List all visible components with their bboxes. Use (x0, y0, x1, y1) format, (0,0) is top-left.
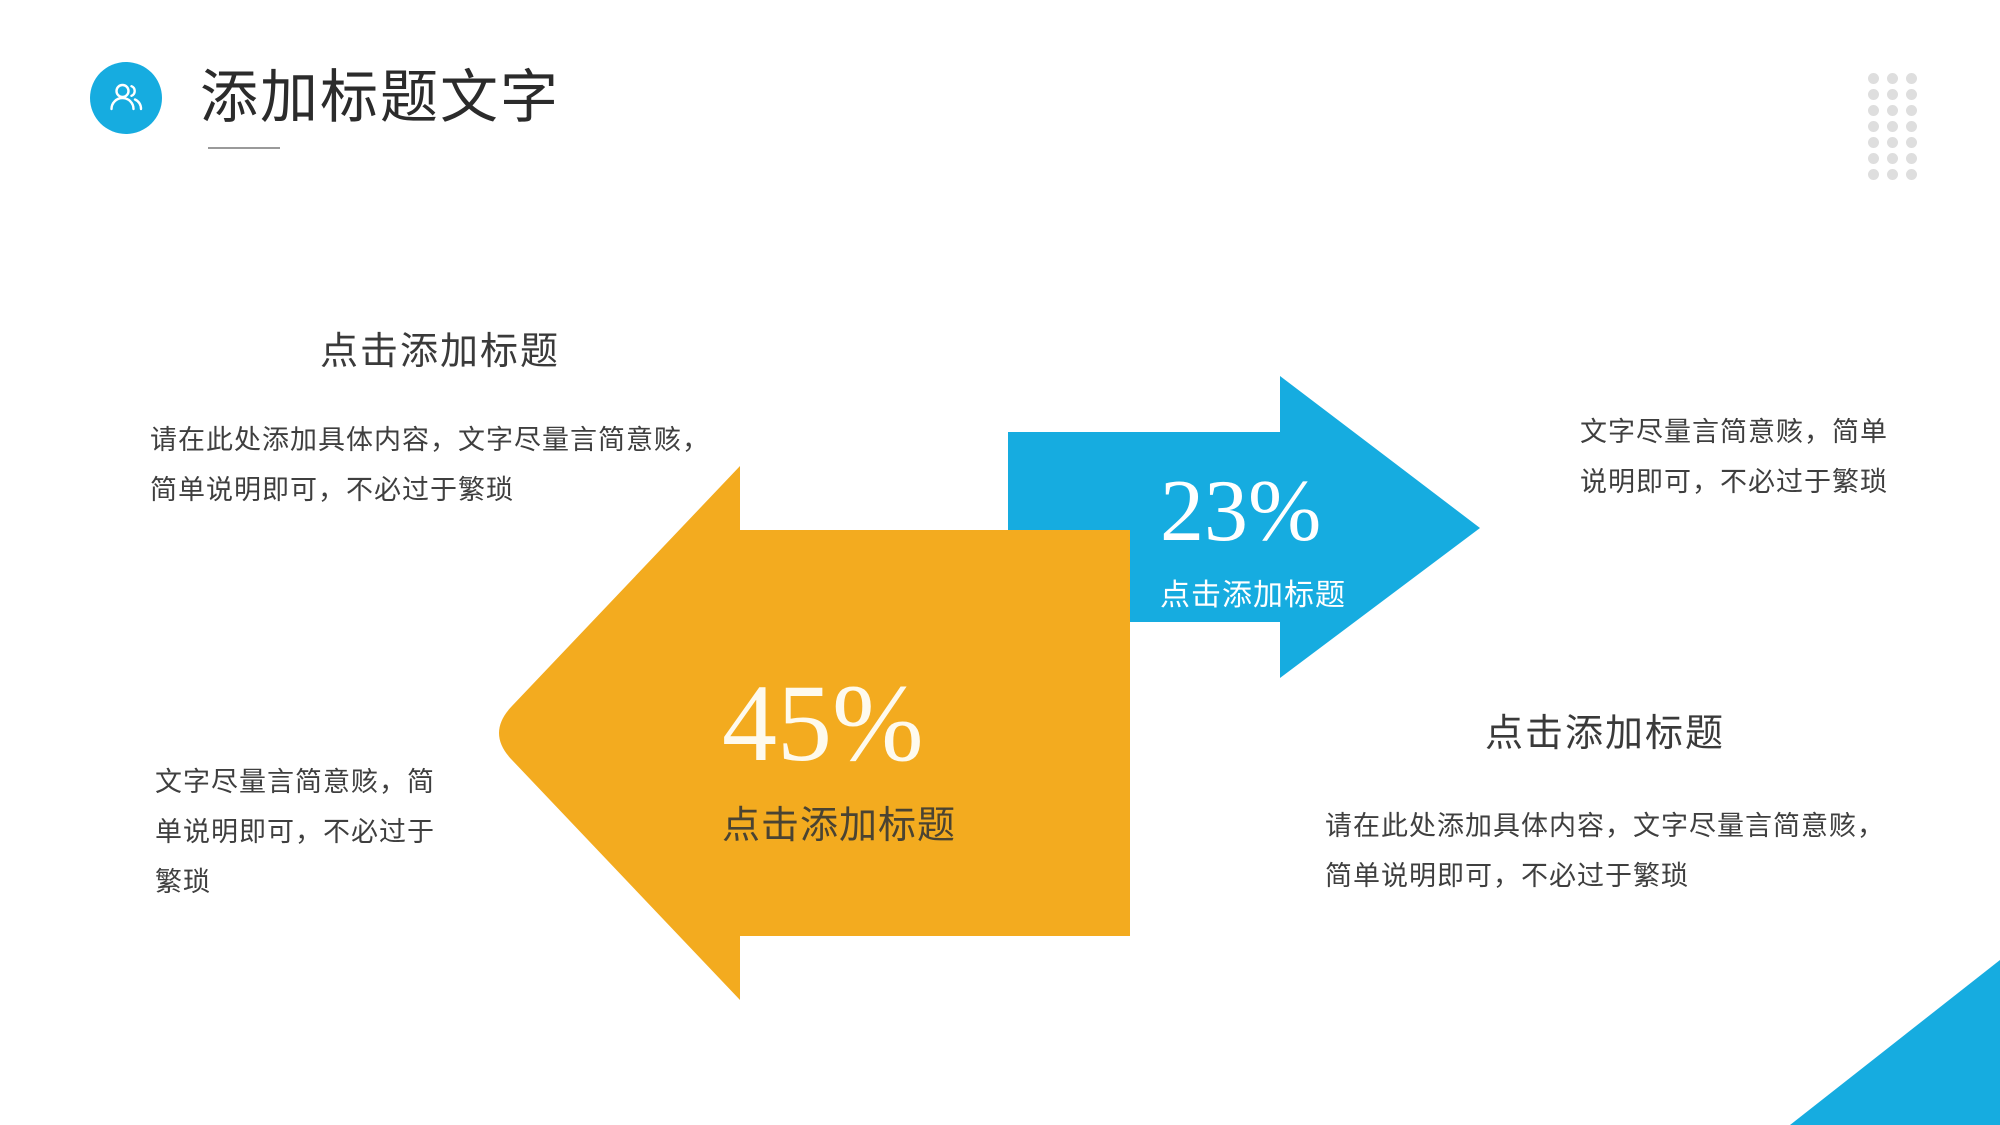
orange-arrow-caption: 点击添加标题 (722, 794, 956, 849)
bottom-left-body: 文字尽量言简意赅，简单说明即可，不必过于繁琐 (155, 758, 455, 908)
blue-arrow-label: 23% 点击添加标题 (1160, 468, 1346, 614)
blue-arrow-percent: 23% (1160, 468, 1346, 556)
text-block-top-right: 文字尽量言简意赅，简单说明即可，不必过于繁琐 (1580, 408, 1900, 508)
slide-canvas: 添加标题文字 23% 点击添加标题 45% 点击添加标题 点击添加标题 请在此处 (0, 0, 2000, 1125)
blue-arrow-caption: 点击添加标题 (1160, 570, 1346, 614)
top-right-body: 文字尽量言简意赅，简单说明即可，不必过于繁琐 (1580, 408, 1900, 508)
text-block-bottom-right: 点击添加标题 请在此处添加具体内容，文字尽量言简意赅，简单说明即可，不必过于繁琐 (1325, 712, 1885, 901)
text-block-top-left: 点击添加标题 请在此处添加具体内容，文字尽量言简意赅，简单说明即可，不必过于繁琐 (150, 330, 710, 515)
orange-arrow-percent: 45% (722, 668, 956, 778)
bottom-right-body: 请在此处添加具体内容，文字尽量言简意赅，简单说明即可，不必过于繁琐 (1325, 802, 1885, 902)
text-block-bottom-left: 文字尽量言简意赅，简单说明即可，不必过于繁琐 (155, 758, 455, 908)
bottom-right-heading: 点击添加标题 (1325, 712, 1885, 758)
orange-arrow-label: 45% 点击添加标题 (722, 668, 956, 849)
top-left-heading: 点击添加标题 (170, 330, 710, 376)
top-left-body: 请在此处添加具体内容，文字尽量言简意赅，简单说明即可，不必过于繁琐 (150, 416, 710, 516)
arrow-diagram (0, 0, 2000, 1125)
